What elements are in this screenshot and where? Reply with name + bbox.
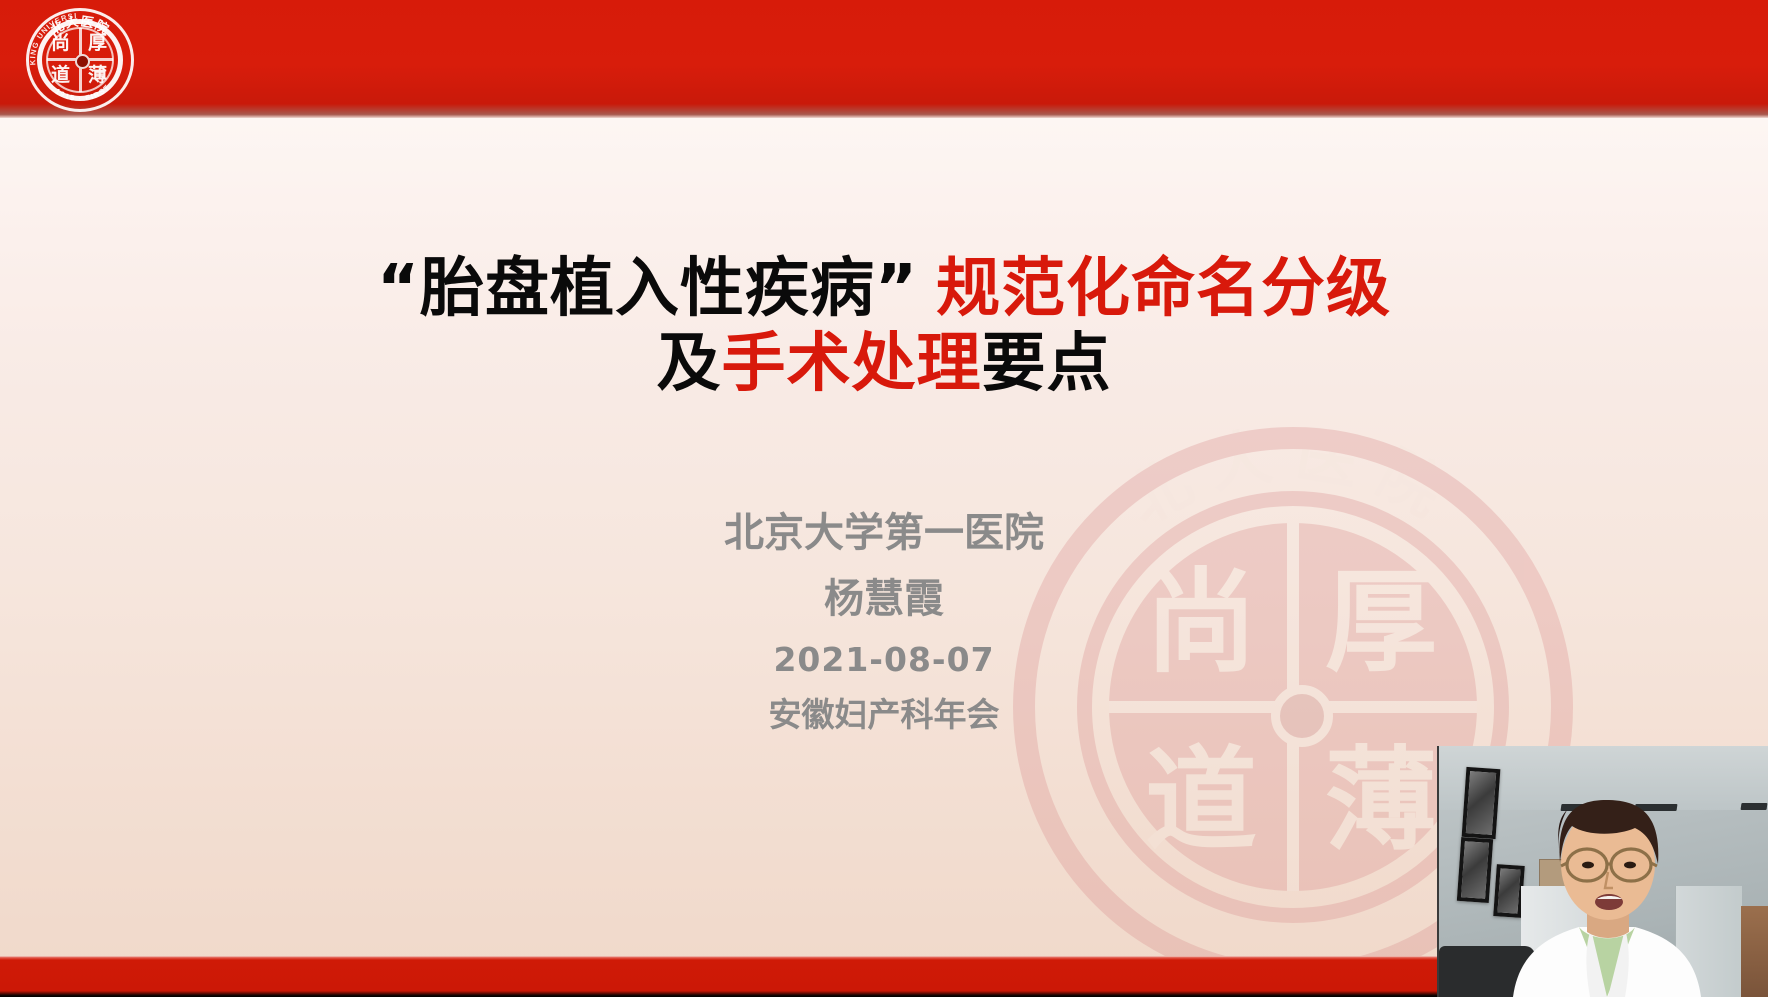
university-seal-logo: 北大医院 · 1915 · FIRST PEKING UNIVERSITY 尚 … (20, 6, 142, 114)
title-conjunction: 及 (657, 327, 722, 401)
presentation-slide: 北大医院 · 1915 · FIRST PEKING UNIVERSITY 尚 … (0, 0, 1768, 997)
title-highlight-1: 规范化命名分级 (936, 252, 1391, 326)
slide-title: “胎盘植入性疾病”规范化命名分级 及手术处理要点 (0, 252, 1768, 402)
title-quoted-term: “胎盘植入性疾病” (377, 252, 918, 326)
presenter-info: 北京大学第一医院 杨慧霞 2021-08-07 安徽妇产科年会 (0, 500, 1768, 742)
presenter-video-feed[interactable] (1437, 746, 1768, 997)
seal-char-bo: 薄 (88, 66, 107, 85)
title-line-2: 及手术处理要点 (0, 327, 1768, 402)
presentation-date: 2021-08-07 (0, 632, 1768, 687)
watermark-char-dao: 道 (1145, 745, 1257, 857)
top-banner (0, 0, 1768, 118)
watermark-char-bo: 薄 (1325, 745, 1437, 857)
seal-center-hub (75, 54, 90, 69)
presenter-name: 杨慧霞 (0, 566, 1768, 632)
title-line-1: “胎盘植入性疾病”规范化命名分级 (0, 252, 1768, 327)
seal-char-dao: 道 (51, 66, 70, 85)
presenter-person (1439, 746, 1768, 997)
seal-char-shang: 尚 (51, 34, 70, 53)
title-highlight-2: 手术处理 (722, 327, 982, 401)
seal-char-hou: 厚 (88, 34, 107, 53)
presentation-event: 安徽妇产科年会 (0, 687, 1768, 742)
title-suffix: 要点 (982, 327, 1112, 401)
presenter-organization: 北京大学第一医院 (0, 500, 1768, 566)
